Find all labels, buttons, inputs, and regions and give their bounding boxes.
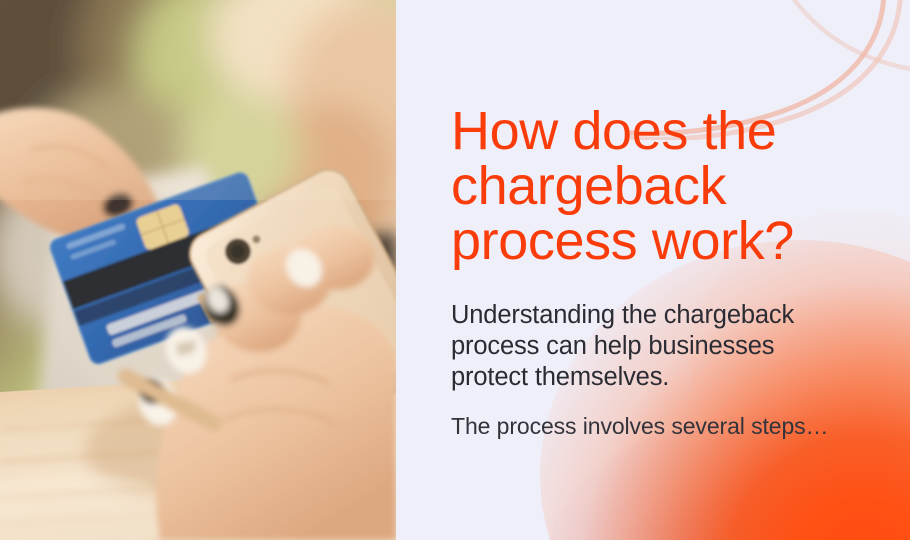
subheading-text: Understanding the chargeback process can… [451,300,861,393]
hero-photo-illustration [0,0,396,540]
content-panel: How does the chargeback process work? Un… [396,0,910,540]
promotional-banner: How does the chargeback process work? Un… [0,0,910,540]
hero-photo [0,0,396,540]
tagline-text: The process involves several steps… [451,412,871,440]
page-title: How does the chargeback process work? [451,104,871,269]
copy-block: How does the chargeback process work? Un… [451,0,906,540]
